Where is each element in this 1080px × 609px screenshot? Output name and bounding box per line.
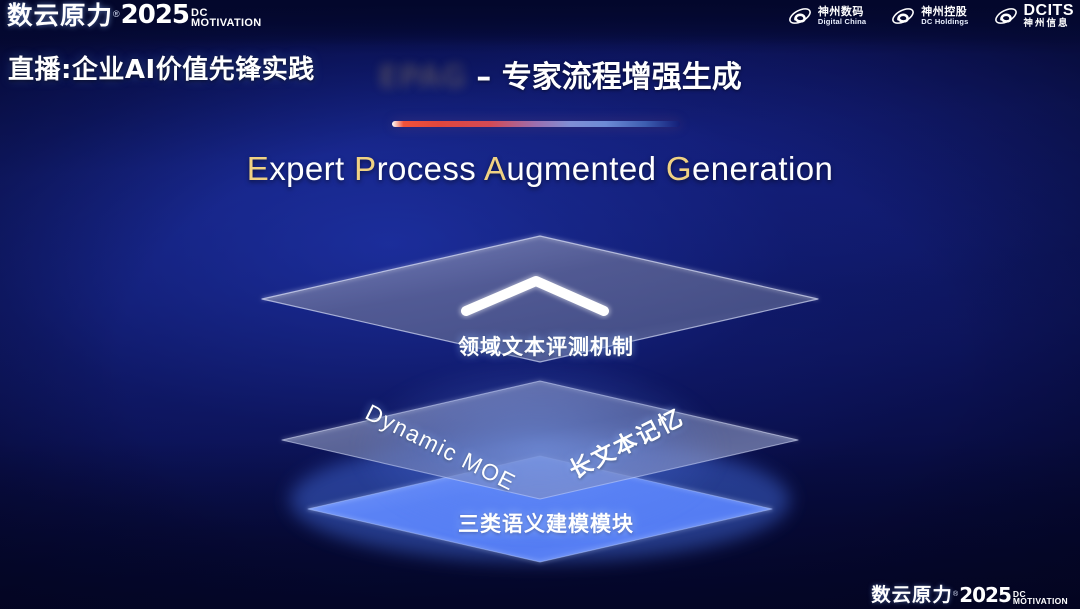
page-title-accent: EPAG: [378, 60, 466, 95]
layer-plate-middle: [282, 381, 798, 499]
chevron-up-icon: [466, 281, 604, 311]
partner-name-en: Digital China: [818, 18, 866, 26]
registered-mark-icon: ®: [113, 9, 120, 19]
page-subtitle: Expert Process Augmented Generation: [0, 150, 1080, 188]
swirl-icon: [993, 3, 1019, 29]
brand-motivation-text: MOTIVATION: [191, 19, 261, 28]
partner-logo-dc-holdings: 神州控股 DC Holdings: [890, 3, 968, 29]
subtitle-cap-g: G: [666, 150, 692, 187]
center-glow: [355, 360, 725, 540]
layer-label-bottom: 三类语义建模模块: [0, 508, 1080, 538]
page-title: EPAG – 专家流程增强生成: [0, 52, 1080, 96]
partner-name-en: DC Holdings: [921, 18, 968, 26]
layer-plate-top: [262, 236, 818, 362]
slide-canvas: 数云原力 ® 2025 DC MOTIVATION 直播:企业AI价值先锋实践 …: [0, 0, 1080, 609]
page-title-rest: – 专家流程增强生成: [466, 60, 742, 95]
footer-brand-dc-motivation: DC MOTIVATION: [1013, 591, 1068, 605]
layer-plate-bottom: [308, 456, 772, 562]
brand-year: 2025: [121, 2, 189, 28]
brand-dc-motivation: DC MOTIVATION: [191, 9, 261, 28]
brand-logo-bottom-right: 数云原力 ® 2025 DC MOTIVATION: [872, 585, 1068, 605]
layer-label-middle-right: 长文本记忆: [562, 398, 689, 485]
footer-brand-name-cn: 数云原力: [871, 586, 953, 605]
swirl-icon: [890, 3, 916, 29]
footer-brand-motivation-text: MOTIVATION: [1013, 598, 1068, 605]
subtitle-cap-a: A: [484, 150, 506, 187]
gradient-divider: [392, 121, 680, 127]
layer-label-middle-left: Dynamic MOE: [361, 399, 520, 497]
partner-logo-dcits: DCITS 神州信息: [993, 3, 1075, 29]
subtitle-cap-e: E: [247, 150, 269, 187]
brand-name-cn: 数云原力: [7, 3, 113, 28]
partner-logo-digital-china: 神州数码 Digital China: [787, 3, 866, 29]
subtitle-rest-expert: xpert: [269, 150, 344, 187]
swirl-icon: [787, 3, 813, 29]
partner-name-en: DCITS: [1024, 3, 1075, 19]
partner-name-cn: 神州信息: [1024, 19, 1075, 29]
brand-logo-top-left: 数云原力 ® 2025 DC MOTIVATION: [8, 2, 308, 32]
footer-brand-year: 2025: [959, 585, 1011, 605]
footer-registered-mark-icon: ®: [953, 591, 958, 598]
partner-logo-group: 神州数码 Digital China 神州控股 DC Holdings: [787, 3, 1074, 29]
subtitle-cap-p: P: [354, 150, 376, 187]
layer-label-top: 领域文本评测机制: [0, 331, 1080, 361]
subtitle-rest-augmented: ugmented: [506, 150, 656, 187]
subtitle-rest-process: rocess: [377, 150, 477, 187]
subtitle-rest-generation: eneration: [692, 150, 833, 187]
